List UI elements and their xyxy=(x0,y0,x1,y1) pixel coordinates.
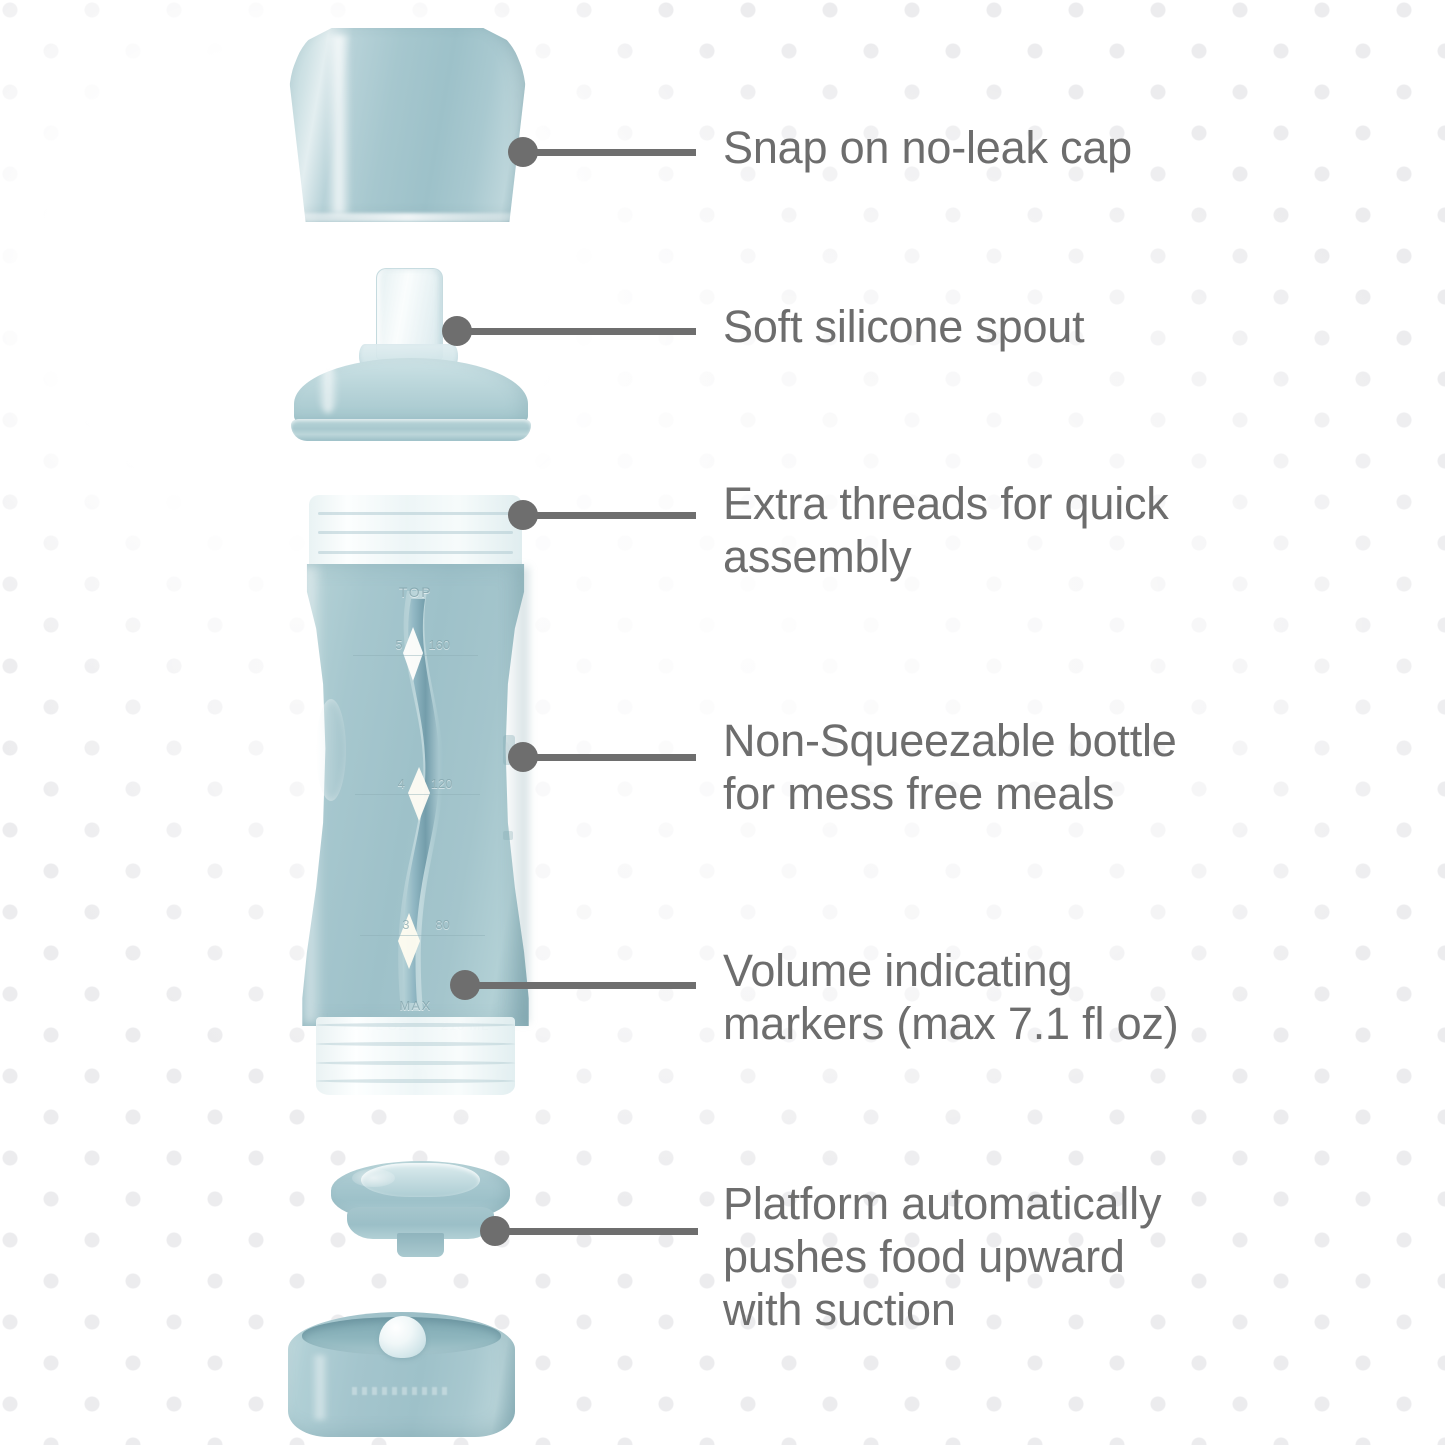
callout-leader-volume xyxy=(450,970,696,1000)
spout-collar-gloss xyxy=(317,365,339,413)
base-cup-engraving xyxy=(352,1387,452,1395)
leader-line-volume xyxy=(476,982,696,989)
sleeve-grip-oval xyxy=(316,699,346,801)
callout-leader-bottle xyxy=(508,742,696,772)
product-part-base-cup xyxy=(288,1312,515,1437)
cap-body xyxy=(289,27,526,222)
bottle-top-engraving: TOP xyxy=(399,584,432,600)
callout-label-spout: Soft silicone spout xyxy=(723,300,1323,353)
callout-label-cap: Snap on no-leak cap xyxy=(723,121,1323,174)
neck-thread-ring xyxy=(318,512,514,515)
callout-leader-spout xyxy=(442,316,696,346)
spout-ring xyxy=(291,419,532,441)
neck-thread-ring xyxy=(318,551,514,554)
base-thread-ring xyxy=(316,1079,515,1083)
product-part-bottle: TOP 5 160 4 120 3 80 MAX 7.1 FL OZ 210 M… xyxy=(300,495,531,1095)
platform-stem xyxy=(397,1233,444,1257)
product-infographic: TOP 5 160 4 120 3 80 MAX 7.1 FL OZ 210 M… xyxy=(0,0,1445,1445)
leader-line-spout xyxy=(468,328,696,335)
bottle-view-channel xyxy=(383,591,443,1011)
callout-label-threads: Extra threads for quick assembly xyxy=(723,477,1343,583)
cap-gloss-highlight xyxy=(327,35,351,214)
base-thread-ring xyxy=(316,1023,515,1027)
leader-line-cap xyxy=(534,149,696,156)
callout-leader-platform xyxy=(480,1216,698,1246)
neck-thread-ring xyxy=(318,531,514,534)
leader-line-platform xyxy=(506,1228,698,1235)
cap-bottom-lip xyxy=(301,213,514,222)
leader-line-bottle xyxy=(534,754,696,761)
callout-label-bottle: Non-Squeezable bottle for mess free meal… xyxy=(723,714,1343,820)
base-thread-ring xyxy=(316,1061,515,1065)
base-cup-gloss-highlight xyxy=(311,1355,329,1420)
product-part-platform xyxy=(331,1161,510,1261)
callout-label-volume: Volume indicating markers (max 7.1 fl oz… xyxy=(723,944,1363,1050)
product-part-spout xyxy=(287,268,535,441)
bottle-max-engraving: MAX xyxy=(399,998,431,1013)
base-thread-ring xyxy=(316,1042,515,1046)
bottle-clear-base-threads xyxy=(316,1017,515,1095)
sleeve-grip-nub xyxy=(503,831,512,840)
callout-leader-cap xyxy=(508,137,696,167)
leader-line-threads xyxy=(534,512,696,519)
callout-leader-threads xyxy=(508,500,696,530)
callout-label-platform: Platform automatically pushes food upwar… xyxy=(723,1177,1363,1336)
product-part-cap xyxy=(289,27,526,222)
bottle-clear-neck xyxy=(309,495,522,570)
